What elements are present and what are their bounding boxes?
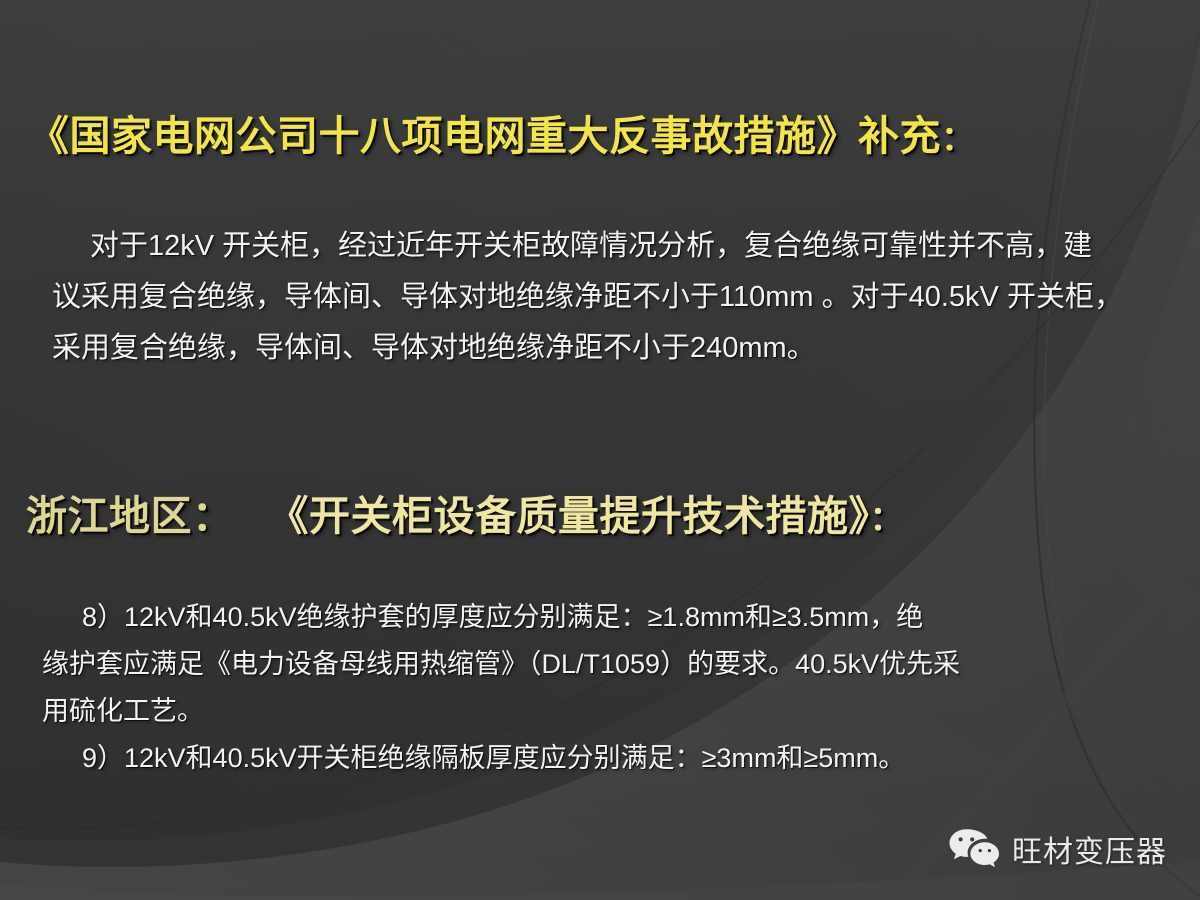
wechat-icon [948, 827, 1000, 871]
heading-primary-colon: ： [941, 120, 976, 158]
paragraph-primary: 对于12kV 开关柜，经过近年开关柜故障情况分析，复合绝缘可靠性并不高，建 议采… [52, 221, 1164, 374]
heading-secondary-region: 浙江地区： [26, 493, 234, 539]
heading-secondary: 浙江地区：《开关柜设备质量提升技术措施》： [26, 492, 904, 540]
heading-secondary-document: 《开关柜设备质量提升技术措施》 [268, 493, 870, 539]
heading-primary-text: 《国家电网公司十八项电网重大反事故措施》补充 [28, 113, 941, 159]
paragraph-secondary: 8）12kV和40.5kV绝缘护套的厚度应分别满足：≥1.8mm和≥3.5mm，… [42, 594, 1162, 782]
heading-secondary-colon: ： [870, 500, 905, 538]
paragraph-primary-line: 议采用复合绝缘，导体间、导体对地绝缘净距不小于110mm 。对于40.5kV 开… [52, 272, 1164, 323]
paragraph-secondary-line: 8）12kV和40.5kV绝缘护套的厚度应分别满足：≥1.8mm和≥3.5mm，… [42, 594, 1162, 641]
heading-primary: 《国家电网公司十八项电网重大反事故措施》补充： [28, 112, 976, 160]
paragraph-primary-line: 采用复合绝缘，导体间、导体对地绝缘净距不小于240mm。 [52, 323, 1164, 374]
paragraph-primary-line: 对于12kV 开关柜，经过近年开关柜故障情况分析，复合绝缘可靠性并不高，建 [52, 221, 1164, 272]
slide-canvas: 《国家电网公司十八项电网重大反事故措施》补充： 对于12kV 开关柜，经过近年开… [0, 0, 1200, 900]
paragraph-secondary-line: 9）12kV和40.5kV开关柜绝缘隔板厚度应分别满足：≥3mm和≥5mm。 [42, 735, 1162, 782]
watermark: 旺材变压器 [948, 827, 1167, 871]
paragraph-secondary-line: 用硫化工艺。 [42, 688, 1162, 735]
watermark-label: 旺材变压器 [1012, 827, 1167, 871]
paragraph-secondary-line: 缘护套应满足《电力设备母线用热缩管》（DL/T1059）的要求。40.5kV优先… [42, 641, 1162, 688]
